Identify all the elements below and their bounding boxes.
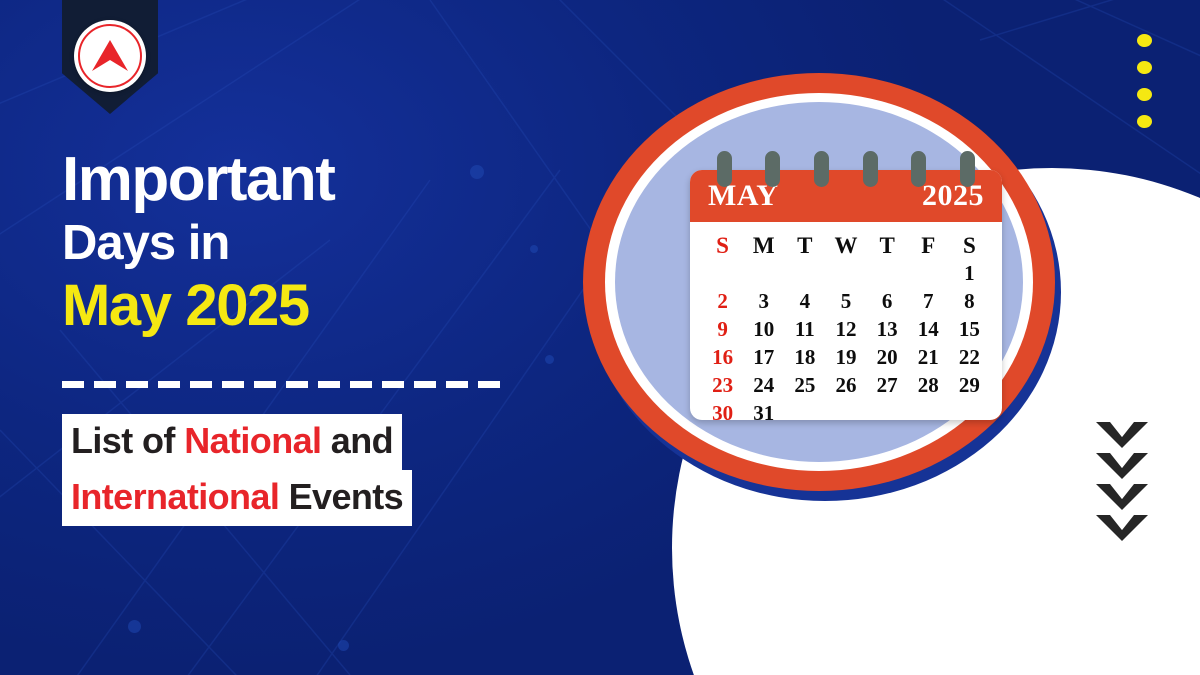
calendar-day-cell[interactable]: 20 — [867, 343, 908, 371]
calendar-day-cell[interactable]: 15 — [949, 315, 990, 343]
calendar-day-cell[interactable]: 14 — [908, 315, 949, 343]
calendar-day-cell[interactable]: 30 — [702, 399, 743, 420]
calendar-day-cell[interactable]: 5 — [825, 287, 866, 315]
calendar-day-cell[interactable] — [867, 259, 908, 287]
calendar-day-cell[interactable] — [784, 399, 825, 420]
background-dot — [470, 165, 484, 179]
banner-root: Important Days in May 2025 List of Natio… — [0, 0, 1200, 675]
calendar-day-cell[interactable]: 7 — [908, 287, 949, 315]
subtitle-block: List of National and International Event… — [62, 414, 412, 526]
subtitle-band-1-highlight: National — [184, 420, 321, 461]
background-dot — [545, 355, 554, 364]
calendar-day-cell[interactable]: 19 — [825, 343, 866, 371]
weekday-header: T — [867, 224, 908, 259]
weekday-header: W — [825, 224, 866, 259]
chevron-down-group — [1096, 422, 1148, 541]
weekday-header: M — [743, 224, 784, 259]
binding-ring — [717, 151, 732, 187]
calendar-day-cell[interactable]: 28 — [908, 371, 949, 399]
yellow-dot — [1137, 88, 1152, 101]
calendar-day-cell[interactable]: 6 — [867, 287, 908, 315]
binding-ring — [814, 151, 829, 187]
calendar-binding-rings — [690, 151, 1002, 187]
calendar-week-row: 16 17 18 19 20 21 22 — [702, 343, 990, 371]
calendar-day-cell[interactable]: 10 — [743, 315, 784, 343]
subtitle-band-2-highlight: International — [71, 476, 279, 517]
calendar-day-cell[interactable]: 8 — [949, 287, 990, 315]
calendar-week-row: 9 10 11 12 13 14 15 — [702, 315, 990, 343]
logo-mark — [74, 20, 146, 92]
calendar-day-cell[interactable]: 26 — [825, 371, 866, 399]
calendar-day-cell[interactable]: 21 — [908, 343, 949, 371]
calendar-day-cell[interactable] — [949, 399, 990, 420]
calendar-day-cell[interactable] — [867, 399, 908, 420]
yellow-dot-group — [1137, 34, 1152, 128]
calendar-day-cell[interactable]: 4 — [784, 287, 825, 315]
calendar-day-cell[interactable] — [908, 399, 949, 420]
calendar-day-cell[interactable]: 22 — [949, 343, 990, 371]
calendar-day-cell[interactable]: 31 — [743, 399, 784, 420]
dashed-divider — [62, 381, 510, 388]
calendar-day-cell[interactable]: 17 — [743, 343, 784, 371]
binding-ring — [960, 151, 975, 187]
calendar-week-row: 2 3 4 5 6 7 8 — [702, 287, 990, 315]
subtitle-band-1-post: and — [321, 420, 393, 461]
calendar-day-cell[interactable]: 25 — [784, 371, 825, 399]
calendar-day-cell[interactable] — [743, 259, 784, 287]
subtitle-band-2-post: Events — [279, 476, 403, 517]
subtitle-band-2: International Events — [62, 470, 412, 526]
subtitle-band-1: List of National and — [62, 414, 402, 470]
weekday-header: S — [702, 224, 743, 259]
weekday-header: F — [908, 224, 949, 259]
chevron-down-icon — [1096, 453, 1148, 479]
calendar-day-cell[interactable] — [908, 259, 949, 287]
yellow-dot — [1137, 34, 1152, 47]
calendar-illustration: MAY 2025 S M T W T F S — [583, 73, 1061, 497]
calendar-day-cell[interactable] — [825, 399, 866, 420]
yellow-dot — [1137, 61, 1152, 74]
background-dot — [128, 620, 141, 633]
logo-ring — [78, 24, 142, 88]
calendar-day-cell[interactable] — [825, 259, 866, 287]
binding-ring — [911, 151, 926, 187]
binding-ring — [765, 151, 780, 187]
chevron-down-icon — [1096, 515, 1148, 541]
calendar-day-cell[interactable] — [784, 259, 825, 287]
calendar-day-cell[interactable]: 13 — [867, 315, 908, 343]
calendar-day-cell[interactable]: 11 — [784, 315, 825, 343]
calendar-day-cell[interactable]: 9 — [702, 315, 743, 343]
weekday-header: T — [784, 224, 825, 259]
background-dot — [338, 640, 349, 651]
chevron-down-icon — [1096, 484, 1148, 510]
calendar-week-row: 1 — [702, 259, 990, 287]
yellow-dot — [1137, 115, 1152, 128]
calendar-day-cell[interactable]: 23 — [702, 371, 743, 399]
calendar-day-cell[interactable]: 27 — [867, 371, 908, 399]
calendar-day-cell[interactable]: 3 — [743, 287, 784, 315]
calendar-weekday-row: S M T W T F S — [702, 224, 990, 259]
calendar-day-cell[interactable] — [702, 259, 743, 287]
calendar-weeks: 1 2 3 4 5 6 7 8 9 10 — [702, 259, 990, 420]
weekday-header: S — [949, 224, 990, 259]
calendar-week-row: 23 24 25 26 27 28 29 — [702, 371, 990, 399]
headline-line-1: Important — [62, 148, 334, 211]
background-dot — [530, 245, 538, 253]
calendar-day-cell[interactable]: 29 — [949, 371, 990, 399]
calendar-day-cell[interactable]: 24 — [743, 371, 784, 399]
calendar-paper: MAY 2025 S M T W T F S — [690, 170, 1002, 420]
calendar-body: S M T W T F S — [690, 222, 1002, 420]
calendar-grid: S M T W T F S — [702, 224, 990, 420]
headline-line-3: May 2025 — [62, 275, 334, 338]
headline-line-2: Days in — [62, 217, 334, 271]
calendar-day-cell[interactable]: 12 — [825, 315, 866, 343]
calendar-week-row: 30 31 — [702, 399, 990, 420]
calendar-day-cell[interactable]: 18 — [784, 343, 825, 371]
subtitle-band-1-pre: List of — [71, 420, 184, 461]
calendar-day-cell[interactable]: 16 — [702, 343, 743, 371]
chevron-down-icon — [1096, 422, 1148, 448]
binding-ring — [863, 151, 878, 187]
calendar-day-cell[interactable]: 2 — [702, 287, 743, 315]
headline-block: Important Days in May 2025 — [62, 148, 334, 338]
calendar-day-cell[interactable]: 1 — [949, 259, 990, 287]
